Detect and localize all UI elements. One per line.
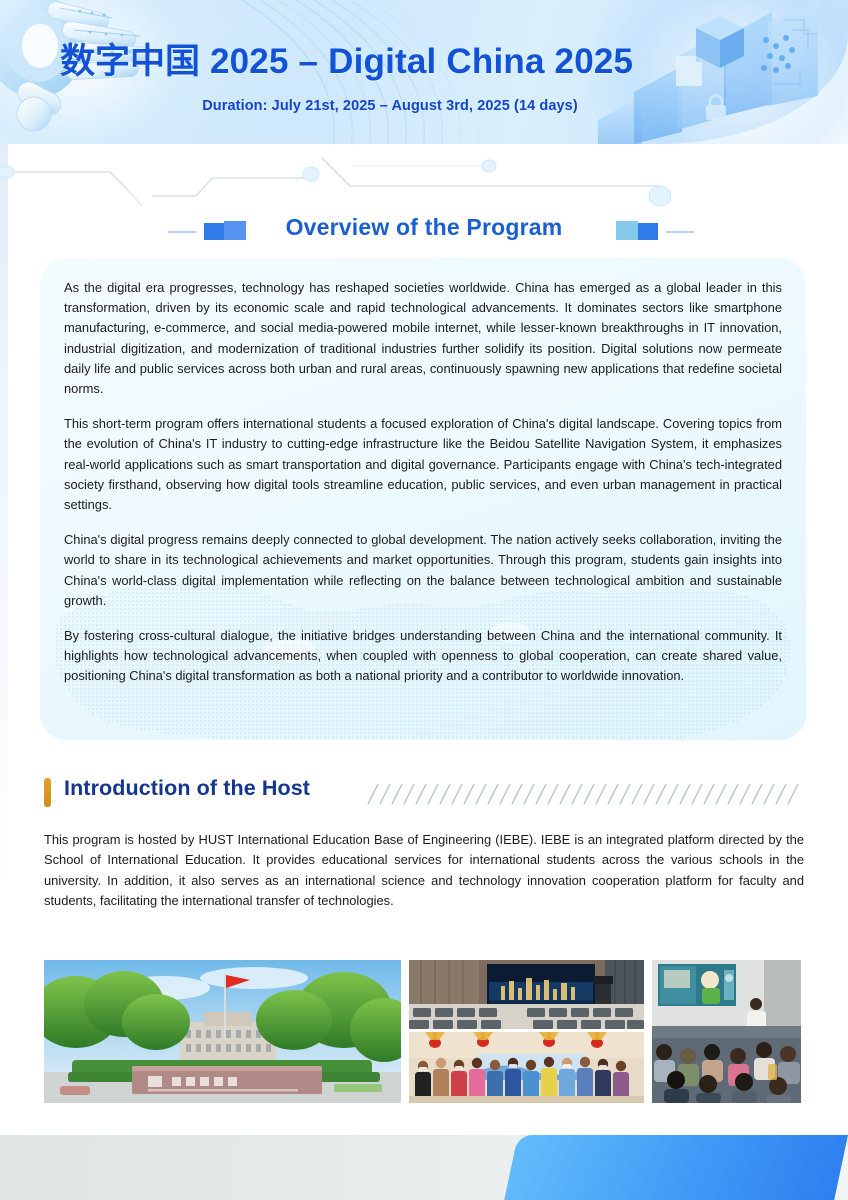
international-students-group-photo	[409, 1032, 644, 1103]
footer-accent-blue	[504, 1135, 848, 1200]
circuit-node	[0, 166, 14, 178]
overview-section-title: Overview of the Program	[0, 214, 848, 241]
section-ornament-right	[584, 216, 694, 248]
host-photo-gallery	[44, 960, 801, 1103]
page-title: 数字中国 2025 – Digital China 2025	[60, 44, 720, 79]
circuit-node	[649, 186, 671, 206]
campus-entrance-photo	[44, 960, 401, 1103]
circuit-node	[482, 160, 496, 172]
overview-paragraph-3: China's digital progress remains deeply …	[64, 530, 782, 611]
overview-body-text: As the digital era progresses, technolog…	[64, 278, 782, 687]
page-title-cn: 数字中国	[60, 42, 200, 81]
page-title-en: 2025 – Digital China 2025	[210, 42, 633, 81]
lecture-hall-photo	[409, 960, 644, 1029]
page-header-banner: 数字中国 2025 – Digital China 2025 Duration:…	[0, 0, 848, 144]
circuit-trace-decoration	[0, 140, 848, 206]
hatch-lines-decoration	[366, 782, 808, 806]
overview-paragraph-2: This short-term program offers internati…	[64, 414, 782, 515]
classroom-lecture-photo	[652, 960, 801, 1103]
host-body-text: This program is hosted by HUST Internati…	[44, 830, 804, 911]
overview-paragraph-4: By fostering cross-cultural dialogue, th…	[64, 626, 782, 687]
program-duration: Duration: July 21st, 2025 – August 3rd, …	[60, 98, 720, 114]
overview-paragraph-1: As the digital era progresses, technolog…	[64, 278, 782, 399]
host-accent-bar	[44, 778, 51, 807]
circuit-node	[303, 167, 319, 181]
page-footer-band	[0, 1135, 848, 1200]
host-section-title: Introduction of the Host	[64, 776, 310, 801]
host-section-header: Introduction of the Host	[44, 776, 808, 810]
